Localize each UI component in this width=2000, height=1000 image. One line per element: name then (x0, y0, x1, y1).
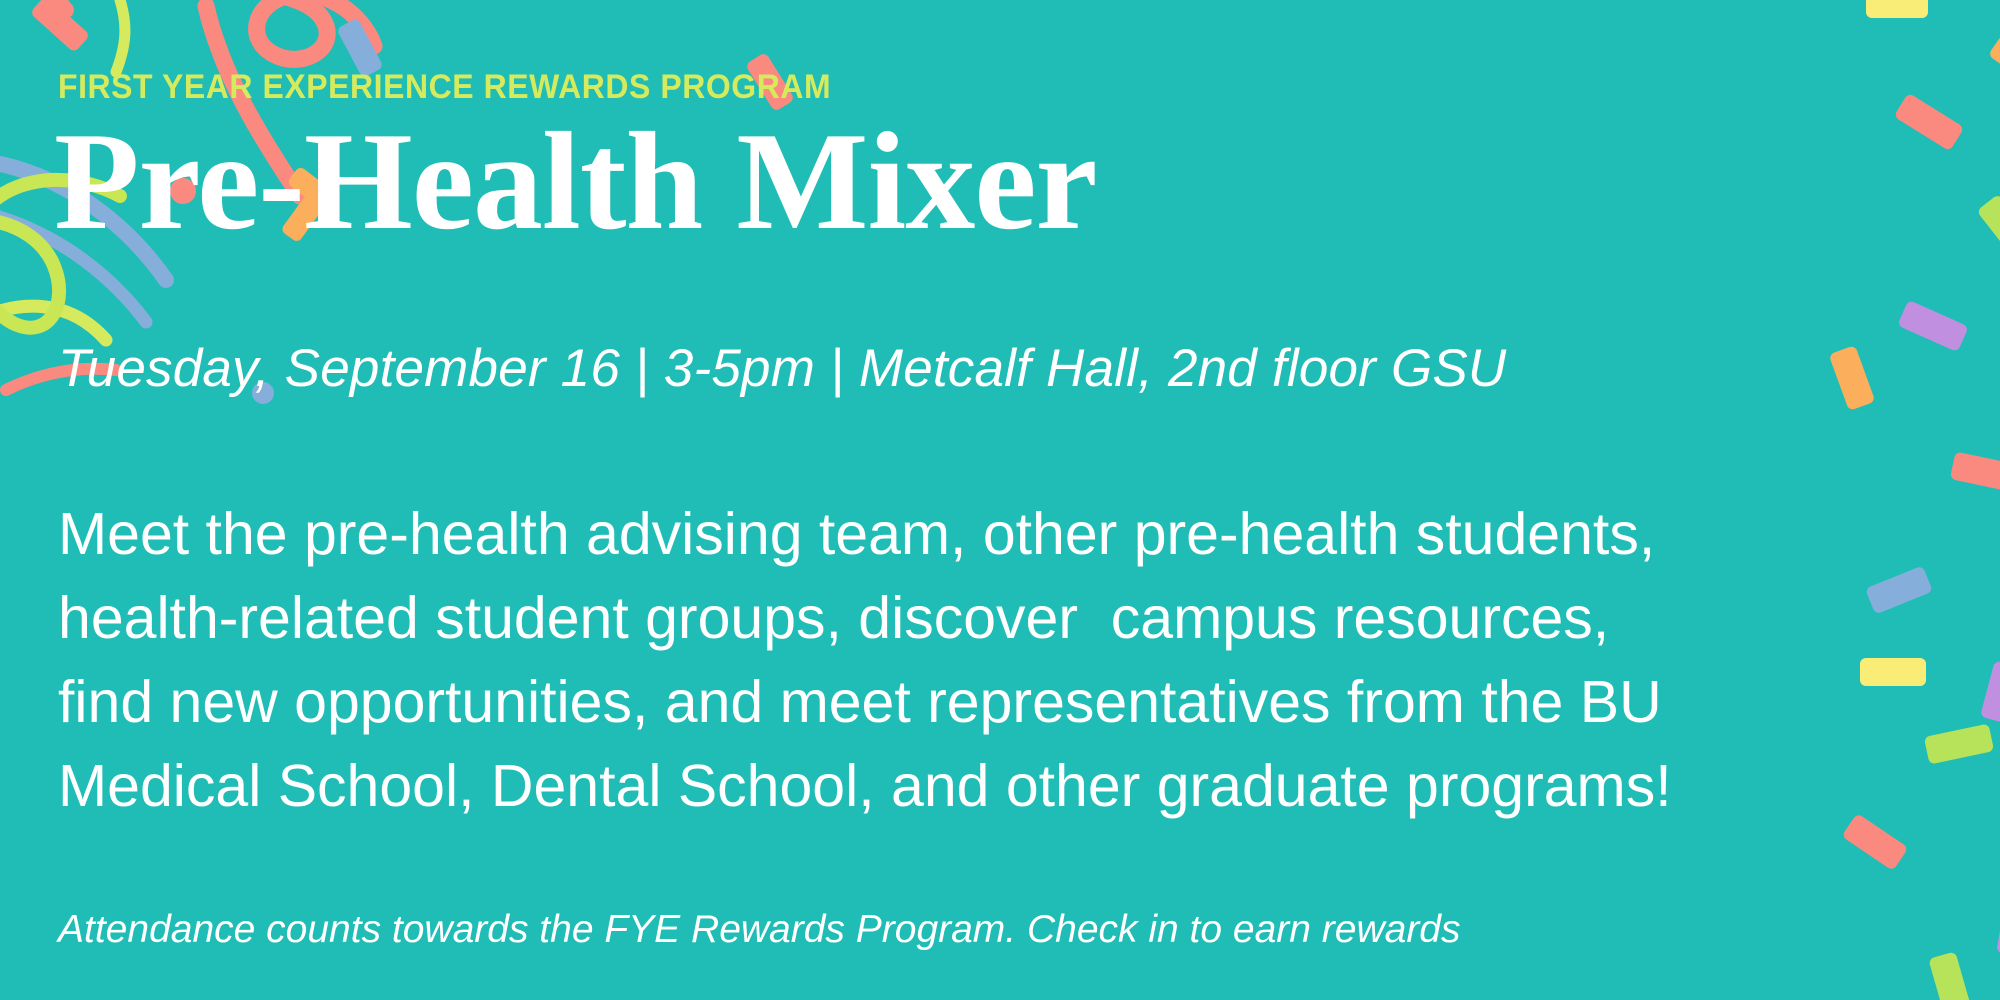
rewards-footnote: Attendance counts towards the FYE Reward… (58, 908, 1461, 952)
confetti-chip (1829, 345, 1876, 411)
description-line: find new opportunities, and meet represe… (58, 660, 1868, 744)
confetti-chip (1950, 451, 2000, 492)
coral-corner-stroke (2, 0, 66, 10)
confetti-chip (1894, 93, 1965, 152)
confetti-chip (1996, 895, 2000, 957)
page-title: Pre-Health Mixer (54, 112, 1097, 252)
confetti-chip (1976, 194, 2000, 259)
confetti-chip (1865, 565, 1933, 614)
description-line: health-related student groups, discover … (58, 576, 1868, 660)
confetti-chip (1860, 658, 1926, 686)
confetti-chip (1988, 34, 2000, 89)
event-dateline: Tuesday, September 16 | 3-5pm | Metcalf … (58, 338, 1506, 399)
poster-content: FIRST YEAR EXPERIENCE REWARDS PROGRAM Pr… (58, 0, 1818, 1000)
confetti-chip (1928, 951, 1971, 1000)
confetti-chip (1980, 660, 2000, 723)
program-eyebrow: FIRST YEAR EXPERIENCE REWARDS PROGRAM (58, 68, 831, 107)
confetti-chip (1866, 0, 1928, 18)
description-line: Medical School, Dental School, and other… (58, 744, 1868, 828)
description-line: Meet the pre-health advising team, other… (58, 492, 1868, 576)
promotional-poster: FIRST YEAR EXPERIENCE REWARDS PROGRAM Pr… (0, 0, 2000, 1000)
confetti-chip (1924, 723, 1994, 764)
confetti-chip (1897, 300, 1969, 352)
event-description: Meet the pre-health advising team, other… (58, 492, 1868, 828)
